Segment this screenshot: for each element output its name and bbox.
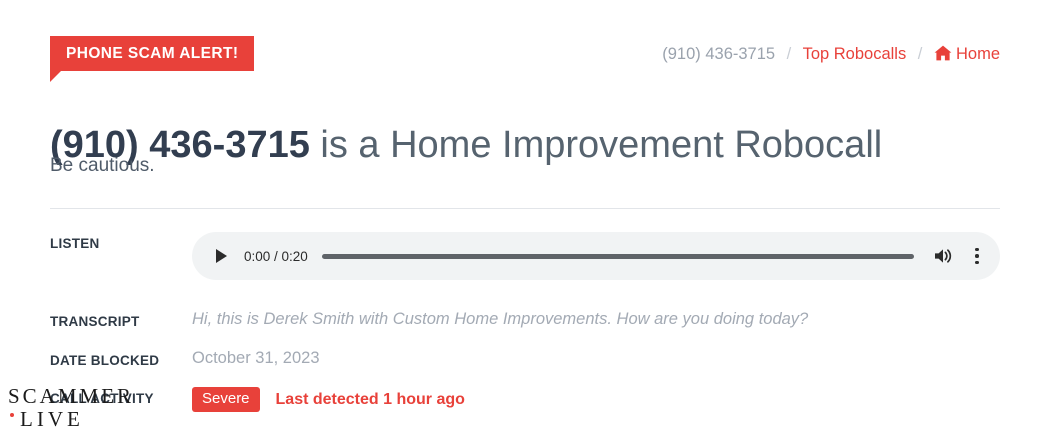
detail-row-listen: LISTEN 0:00 / 0:20 <box>50 232 1000 280</box>
listen-value: 0:00 / 0:20 <box>192 232 1000 280</box>
play-triangle <box>216 249 227 263</box>
page-title: (910) 436-3715 is a Home Improvement Rob… <box>50 125 882 167</box>
detail-row-date-blocked: DATE BLOCKED October 31, 2023 <box>50 349 1000 368</box>
audio-player[interactable]: 0:00 / 0:20 <box>192 232 1000 280</box>
header-divider <box>50 208 1000 209</box>
kebab-menu-icon[interactable] <box>968 245 986 267</box>
home-icon <box>934 45 952 65</box>
phone-scam-alert-badge: PHONE SCAM ALERT! <box>50 36 254 71</box>
date-blocked-value: October 31, 2023 <box>192 349 1000 368</box>
severity-status-badge: Severe <box>192 387 260 413</box>
breadcrumb-separator: / <box>787 45 792 63</box>
breadcrumb-link-home[interactable]: Home <box>934 45 1000 63</box>
play-icon[interactable] <box>208 243 234 269</box>
call-activity-value: Severe Last detected 1 hour ago <box>192 387 1000 413</box>
listen-label: LISTEN <box>50 232 192 251</box>
kebab-dot <box>975 248 979 252</box>
audio-progress-slider[interactable] <box>322 254 914 259</box>
page-header: PHONE SCAM ALERT! (910) 436-3715 / Top R… <box>50 36 1000 80</box>
breadcrumb-separator: / <box>918 45 923 63</box>
last-detected-text: Last detected 1 hour ago <box>276 391 465 409</box>
page-subtitle: Be cautious. <box>50 155 155 177</box>
date-blocked-label: DATE BLOCKED <box>50 349 192 368</box>
breadcrumb-link-home-label: Home <box>956 45 1000 63</box>
logo-dot <box>10 413 14 417</box>
page-title-rest: is a Home Improvement Robocall <box>310 124 882 166</box>
breadcrumb-link-top-robocalls[interactable]: Top Robocalls <box>803 45 907 63</box>
breadcrumb: (910) 436-3715 / Top Robocalls / Home <box>662 45 1000 65</box>
detail-row-call-activity: CALL ACTIVITY Severe Last detected 1 hou… <box>50 387 1000 413</box>
details-list: LISTEN 0:00 / 0:20 <box>50 232 1000 412</box>
transcript-label: TRANSCRIPT <box>50 310 192 329</box>
kebab-dot <box>975 254 979 258</box>
breadcrumb-current: (910) 436-3715 <box>662 45 775 63</box>
transcript-value: Hi, this is Derek Smith with Custom Home… <box>192 310 1000 330</box>
call-activity-label: CALL ACTIVITY <box>50 387 192 406</box>
detail-row-transcript: TRANSCRIPT Hi, this is Derek Smith with … <box>50 310 1000 330</box>
kebab-dot <box>975 261 979 265</box>
audio-time-display: 0:00 / 0:20 <box>244 249 308 264</box>
volume-icon[interactable] <box>932 246 954 266</box>
